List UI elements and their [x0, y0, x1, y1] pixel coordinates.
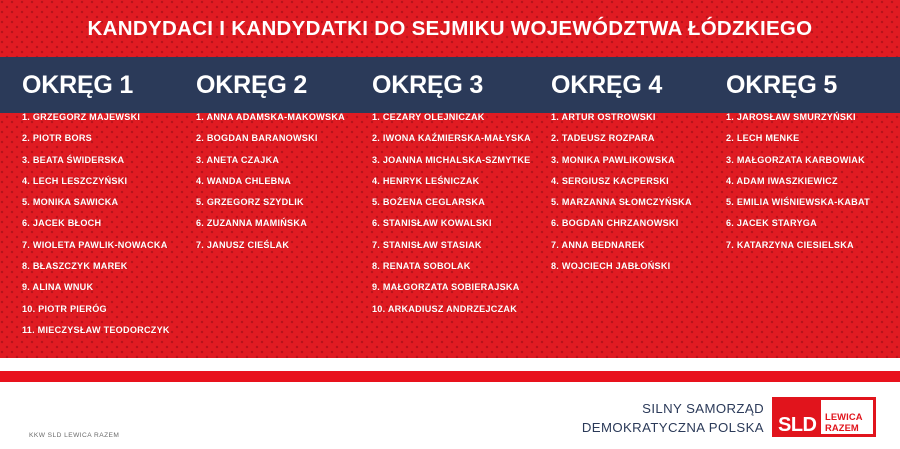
candidate-list-item: 2. LECH MENKE: [726, 134, 870, 143]
logo-white-box: LEWICA RAZEM: [821, 400, 873, 434]
district-header-4: OKRĘG 4: [551, 57, 662, 113]
page-title: KANDYDACI I KANDYDATKI DO SEJMIKU WOJEWÓ…: [88, 17, 813, 41]
candidate-list-item: 8. BŁASZCZYK MAREK: [22, 262, 170, 271]
candidate-list-item: 3. MONIKA PAWLIKOWSKA: [551, 156, 692, 165]
committee-notice: KKW SLD LEWICA RAZEM: [29, 432, 119, 439]
district-header-inner: OKRĘG 1OKRĘG 2OKRĘG 3OKRĘG 4OKRĘG 5: [0, 57, 900, 113]
candidate-list-item: 3. ANETA CZAJKA: [196, 156, 345, 165]
logo-sld-text: SLD: [778, 415, 817, 435]
candidate-list-item: 4. WANDA CHLEBNA: [196, 177, 345, 186]
campaign-slogan: SILNY SAMORZĄD DEMOKRATYCZNA POLSKA: [582, 400, 764, 437]
candidate-list-item: 2. PIOTR BORS: [22, 134, 170, 143]
logo-lewica-text: LEWICA: [825, 412, 863, 421]
candidate-list-item: 6. JACEK STARYGA: [726, 219, 870, 228]
candidate-column-1: 1. GRZEGORZ MAJEWSKI2. PIOTR BORS3. BEAT…: [22, 113, 170, 347]
candidate-list-item: 3. JOANNA MICHALSKA-SZMYTKE: [372, 156, 531, 165]
candidate-list-item: 2. BOGDAN BARANOWSKI: [196, 134, 345, 143]
candidate-list-item: 4. LECH LESZCZYŃSKI: [22, 177, 170, 186]
candidate-list-item: 7. KATARZYNA CIESIELSKA: [726, 241, 870, 250]
candidate-list-item: 8. RENATA SOBOLAK: [372, 262, 531, 271]
candidate-column-2: 1. ANNA ADAMSKA-MAKOWSKA2. BOGDAN BARANO…: [196, 113, 345, 262]
slogan-line-1: SILNY SAMORZĄD: [582, 400, 764, 419]
candidate-list-item: 1. ANNA ADAMSKA-MAKOWSKA: [196, 113, 345, 122]
candidate-columns: 1. GRZEGORZ MAJEWSKI2. PIOTR BORS3. BEAT…: [0, 113, 900, 358]
candidate-list-item: 6. JACEK BŁOCH: [22, 219, 170, 228]
candidate-list-item: 9. ALINA WNUK: [22, 283, 170, 292]
candidate-column-4: 1. ARTUR OSTROWSKI2. TADEUSZ ROZPARA3. M…: [551, 113, 692, 283]
district-header-1: OKRĘG 1: [22, 57, 133, 113]
candidate-list-item: 4. ADAM IWASZKIEWICZ: [726, 177, 870, 186]
candidate-list-item: 9. MAŁGORZATA SOBIERAJSKA: [372, 283, 531, 292]
candidate-list-item: 7. STANISŁAW STASIAK: [372, 241, 531, 250]
candidate-list-item: 5. BOŻENA CEGLARSKA: [372, 198, 531, 207]
candidate-list-item: 5. GRZEGORZ SZYDLIK: [196, 198, 345, 207]
slogan-line-2: DEMOKRATYCZNA POLSKA: [582, 419, 764, 438]
candidate-list-item: 4. SERGIUSZ KACPERSKI: [551, 177, 692, 186]
candidate-list-item: 10. PIOTR PIERÓG: [22, 305, 170, 314]
candidate-list-item: 2. TADEUSZ ROZPARA: [551, 134, 692, 143]
candidate-list-item: 5. EMILIA WIŚNIEWSKA-KABAT: [726, 198, 870, 207]
candidate-list-item: 11. MIECZYSŁAW TEODORCZYK: [22, 326, 170, 335]
candidate-list-item: 6. BOGDAN CHRZANOWSKI: [551, 219, 692, 228]
candidate-column-3: 1. CEZARY OLEJNICZAK2. IWONA KAŹMIERSKA-…: [372, 113, 531, 326]
candidate-list-item: 7. ANNA BEDNAREK: [551, 241, 692, 250]
candidate-list-item: 10. ARKADIUSZ ANDRZEJCZAK: [372, 305, 531, 314]
poster-title-bar: KANDYDACI I KANDYDATKI DO SEJMIKU WOJEWÓ…: [0, 0, 900, 57]
candidate-list-item: 1. CEZARY OLEJNICZAK: [372, 113, 531, 122]
district-header-2: OKRĘG 2: [196, 57, 307, 113]
sld-lewica-razem-logo: SLD LEWICA RAZEM: [772, 397, 876, 437]
footer-white-gap: [0, 358, 900, 371]
district-header-5: OKRĘG 5: [726, 57, 837, 113]
candidate-column-5: 1. JAROSŁAW SMURZYŃSKI2. LECH MENKE3. MA…: [726, 113, 870, 262]
district-header-band: OKRĘG 1OKRĘG 2OKRĘG 3OKRĘG 4OKRĘG 5: [0, 57, 900, 113]
candidate-list-item: 8. WOJCIECH JABŁOŃSKI: [551, 262, 692, 271]
candidate-list-item: 2. IWONA KAŹMIERSKA-MAŁYSKA: [372, 134, 531, 143]
candidate-list-item: 4. HENRYK LEŚNICZAK: [372, 177, 531, 186]
candidate-list-item: 3. MAŁGORZATA KARBOWIAK: [726, 156, 870, 165]
candidate-list-item: 6. STANISŁAW KOWALSKI: [372, 219, 531, 228]
candidate-list-item: 3. BEATA ŚWIDERSKA: [22, 156, 170, 165]
candidate-list-item: 7. JANUSZ CIEŚLAK: [196, 241, 345, 250]
footer: KKW SLD LEWICA RAZEM SILNY SAMORZĄD DEMO…: [0, 382, 900, 449]
candidate-list-item: 1. GRZEGORZ MAJEWSKI: [22, 113, 170, 122]
candidate-list-item: 5. MONIKA SAWICKA: [22, 198, 170, 207]
candidate-list-item: 1. ARTUR OSTROWSKI: [551, 113, 692, 122]
footer-red-stripe: [0, 371, 900, 382]
candidate-list-item: 1. JAROSŁAW SMURZYŃSKI: [726, 113, 870, 122]
campaign-poster: KANDYDACI I KANDYDATKI DO SEJMIKU WOJEWÓ…: [0, 0, 900, 449]
candidate-list-item: 6. ZUZANNA MAMIŃSKA: [196, 219, 345, 228]
district-header-3: OKRĘG 3: [372, 57, 483, 113]
candidate-list-item: 5. MARZANNA SŁOMCZYŃSKA: [551, 198, 692, 207]
candidate-list-item: 7. WIOLETA PAWLIK-NOWACKA: [22, 241, 170, 250]
logo-razem-text: RAZEM: [825, 423, 859, 432]
